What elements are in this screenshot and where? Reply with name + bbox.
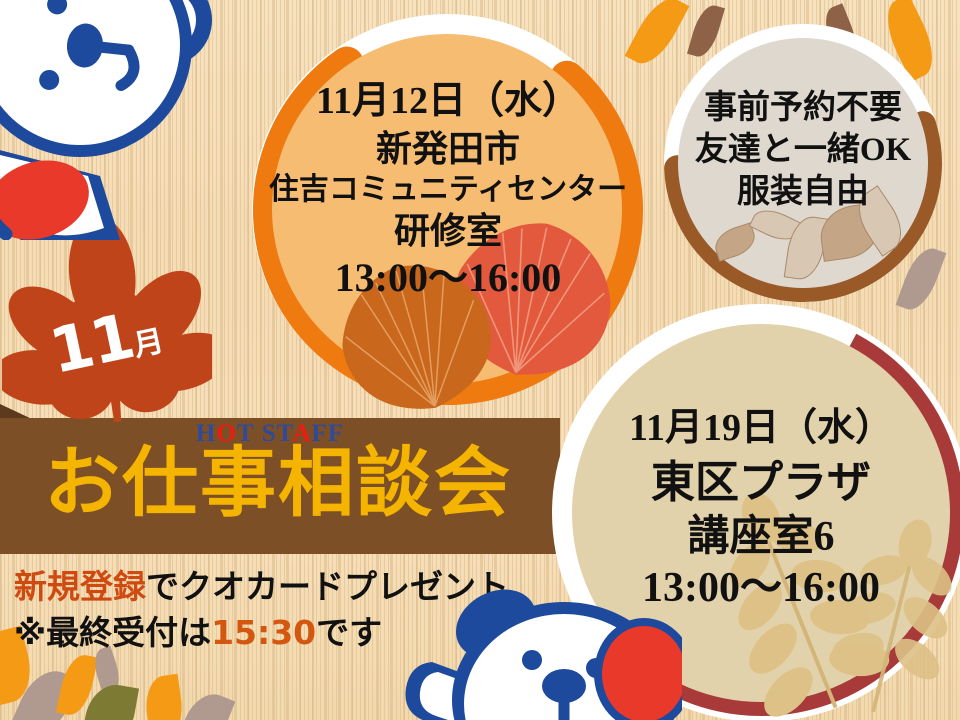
background-leaf-icon [177, 687, 236, 720]
session-1-venue: 住吉コミュニティセンター [269, 172, 627, 207]
session-1-room: 研修室 [394, 210, 502, 252]
banner-title: お仕事相談会 [8, 443, 548, 523]
info-bubble-text: 事前予約不要 友達と一緒OK 服装自由 [668, 80, 938, 220]
month-badge-unit: 月 [130, 323, 167, 363]
info-line-2: 友達と一緒OK [695, 129, 911, 171]
session-1-time: 13:00〜16:00 [335, 254, 562, 301]
session-1-text: 11月12日（水） 新発田市 住吉コミュニティセンター 研修室 13:00〜16… [258, 50, 638, 330]
note-line-2: ※最終受付は15:30です [14, 606, 382, 654]
poster-root: 11月12日（水） 新発田市 住吉コミュニティセンター 研修室 13:00〜16… [0, 0, 960, 720]
background-leaf-icon [142, 674, 186, 720]
note-line-2-time: 15:30 [211, 613, 316, 652]
note-line-2-suffix: です [316, 613, 382, 652]
mascot-bear-bottom-center [392, 588, 682, 720]
session-1-date: 11月12日（水） [316, 79, 580, 124]
month-badge: 11月 [2, 212, 212, 427]
session-2-room: 講座室6 [687, 513, 834, 563]
note-line-2-prefix: ※最終受付は [14, 613, 211, 652]
info-line-3: 服装自由 [737, 171, 869, 213]
session-1-city: 新発田市 [376, 128, 520, 170]
info-line-1: 事前予約不要 [704, 87, 902, 129]
session-2-venue: 東区プラザ [651, 457, 871, 509]
session-2-date: 11月19日（水） [629, 406, 893, 451]
note-line-1-highlight: 新規登録 [14, 567, 146, 606]
mascot-bear-top-left [0, 0, 230, 240]
